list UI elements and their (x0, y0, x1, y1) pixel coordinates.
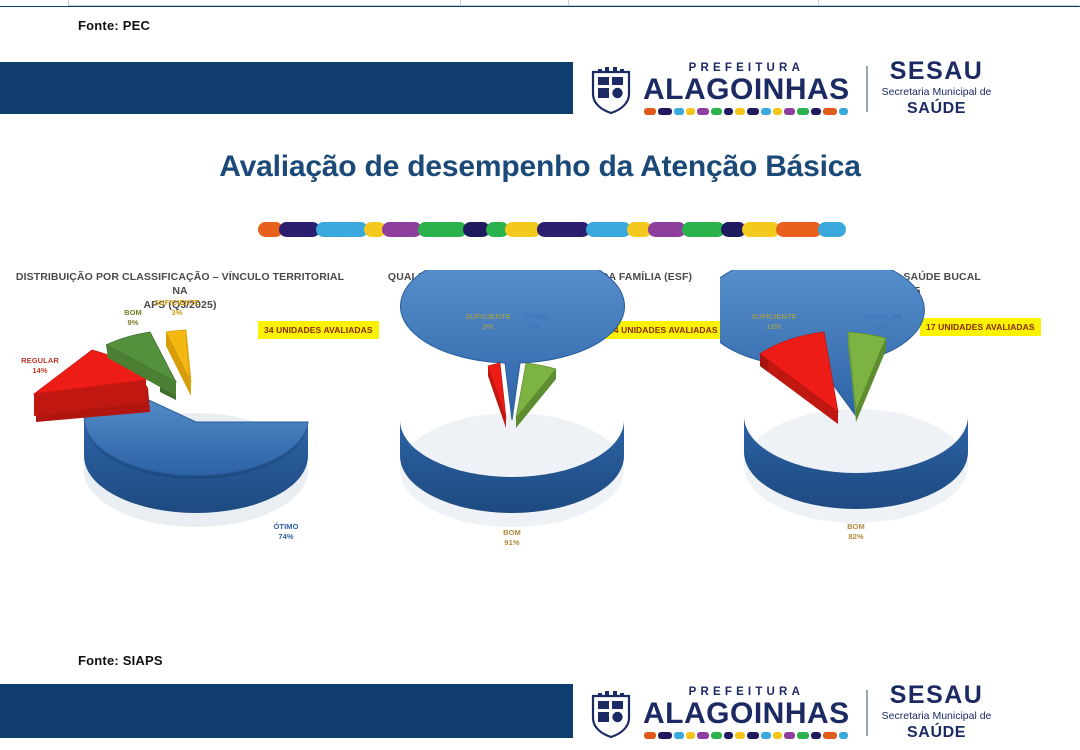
brand-city-block: PREFEITURA ALAGOINHAS (643, 687, 850, 740)
decorative-segment (682, 222, 726, 237)
decorative-segment (586, 222, 632, 237)
pie-label-suficiente-esf-name: SUFICIENTE (465, 312, 511, 321)
decorative-segment (776, 222, 822, 237)
sesau-subtitle: Secretaria Municipal de SAÚDE (882, 86, 992, 119)
chart-card-aps: DISTRIBUIÇÃO POR CLASSIFICAÇÃO – VÍNCULO… (0, 270, 360, 670)
brand-dot (724, 732, 733, 739)
brand-dot (686, 108, 695, 115)
pie-label-bom-aps-value: 9% (127, 318, 138, 327)
decorative-segment (742, 222, 780, 237)
brand-dot (735, 732, 745, 739)
brand-sesau-block: SESAU Secretaria Municipal de SAÚDE (882, 683, 992, 743)
brand-dot (811, 108, 821, 115)
brand-dot (823, 732, 837, 739)
pie-label-suficiente-aps: SUFICIENTE 3% (146, 298, 208, 318)
pie-label-otimo-aps-name: ÓTIMO (273, 522, 298, 531)
sliver-cell (460, 0, 569, 6)
brand-dot-bar (644, 732, 848, 739)
decorative-segment (382, 222, 422, 237)
brand-dot (644, 108, 656, 115)
brand-dot (711, 732, 722, 739)
brand-dot (797, 108, 809, 115)
pie-label-regular-aps-value: 14% (32, 366, 47, 375)
brand-dot (724, 108, 733, 115)
brand-dot (761, 108, 771, 115)
footer-navy-band (0, 684, 573, 738)
brand-lockup-bottom: PREFEITURA ALAGOINHAS SESAU Secretaria M… (573, 680, 1080, 746)
brand-dot (658, 108, 672, 115)
sliver-cell (818, 0, 1079, 6)
page-title: Avaliação de desempenho da Atenção Básic… (0, 150, 1080, 184)
sesau-subtitle-line1: Secretaria Municipal de (882, 86, 992, 98)
source-label-bottom: Fonte: SIAPS (78, 653, 163, 668)
brand-dot (747, 108, 759, 115)
sliver-cell (68, 0, 461, 6)
coat-of-arms-icon (589, 688, 633, 738)
pie-label-otimo-aps-value: 74% (278, 532, 293, 541)
pie-label-regular-aps-name: REGULAR (21, 356, 59, 365)
pie-label-bom-bucal: BOM 82% (828, 522, 884, 542)
sesau-subtitle-line2: SAÚDE (882, 723, 992, 743)
decorative-segment (505, 222, 541, 237)
header-navy-band (0, 62, 573, 114)
brand-dot (823, 108, 837, 115)
pie-label-otimo-esf-value: 6% (529, 322, 540, 331)
decorative-segment (818, 222, 846, 237)
sliver-cell (568, 0, 819, 6)
pie-label-suficiente-bucal-value: 12% (766, 322, 781, 331)
pie-label-suficiente-aps-name: SUFICIENTE (154, 298, 200, 307)
previous-slide-edge (0, 0, 1080, 6)
brand-dot (784, 108, 795, 115)
sesau-wordmark: SESAU (890, 59, 984, 84)
brand-dot (811, 732, 821, 739)
brand-dot (797, 732, 809, 739)
brand-dot (735, 108, 745, 115)
brand-divider (866, 66, 868, 112)
brand-dot (839, 732, 848, 739)
pie-label-suficiente-esf-value: 3% (482, 322, 493, 331)
pie-label-regular-aps: REGULAR 14% (8, 356, 72, 376)
brand-sesau-block: SESAU Secretaria Municipal de SAÚDE (882, 59, 992, 119)
decorative-segment (316, 222, 367, 237)
brand-dot (773, 108, 782, 115)
chart-card-esf: QUALIDADE DA ESTRATÉGIA DE SAÚDE DA FAMÍ… (360, 270, 720, 670)
brand-city-name: ALAGOINHAS (643, 75, 850, 105)
brand-dot-bar (644, 108, 848, 115)
brand-dot (644, 732, 656, 739)
brand-dot (697, 732, 709, 739)
slide-content: Avaliação de desempenho da Atenção Básic… (0, 122, 1080, 680)
brand-divider (866, 690, 868, 736)
sesau-wordmark: SESAU (890, 683, 984, 708)
brand-dot (839, 108, 848, 115)
pie-label-bom-aps-name: BOM (124, 308, 142, 317)
brand-dot (658, 732, 672, 739)
sesau-subtitle-line1: Secretaria Municipal de (882, 710, 992, 722)
brand-dot (674, 108, 684, 115)
pie-label-bom-bucal-name: BOM (847, 522, 865, 531)
brand-dot (697, 108, 709, 115)
pie-label-bom-esf-name: BOM (503, 528, 521, 537)
pie-label-regular-bucal-name: REGULAR (864, 312, 902, 321)
source-label-top: Fonte: PEC (78, 18, 150, 33)
brand-city-name: ALAGOINHAS (643, 699, 850, 729)
sesau-subtitle: Secretaria Municipal de SAÚDE (882, 710, 992, 743)
pie-label-bom-esf-value: 91% (504, 538, 519, 547)
brand-dot (674, 732, 684, 739)
charts-row: DISTRIBUIÇÃO POR CLASSIFICAÇÃO – VÍNCULO… (0, 270, 1080, 670)
pie-label-suficiente-bucal-name: SUFICIENTE (751, 312, 797, 321)
pie-label-regular-bucal: REGULAR 6% (852, 312, 914, 332)
pie-label-bom-esf: BOM 91% (484, 528, 540, 548)
brand-lockup-top: PREFEITURA ALAGOINHAS SESAU Secretaria M… (573, 58, 1080, 120)
sesau-subtitle-line2: SAÚDE (882, 99, 992, 119)
pie-chart-aps (0, 270, 360, 670)
brand-dot (711, 108, 722, 115)
coat-of-arms-icon (589, 64, 633, 114)
decorative-segment (537, 222, 590, 237)
decorative-color-bar (258, 222, 842, 237)
brand-dot (747, 732, 759, 739)
chart-card-bucal: QUALIDADE DA SAÚDE BUCAL Q3/2025 17 UNID… (720, 270, 1080, 670)
pie-label-bom-bucal-value: 82% (848, 532, 863, 541)
pie-label-suficiente-aps-value: 3% (171, 308, 182, 317)
brand-city-block: PREFEITURA ALAGOINHAS (643, 63, 850, 116)
decorative-segment (648, 222, 686, 237)
decorative-segment (279, 222, 321, 237)
brand-dot (686, 732, 695, 739)
brand-dot (773, 732, 782, 739)
brand-dot (784, 732, 795, 739)
pie-label-otimo-esf-name: ÓTIMO (522, 312, 547, 321)
decorative-segment (418, 222, 467, 237)
slide-page: Fonte: PEC PREFEITURA ALAGOINHAS SES (0, 0, 1080, 750)
pie-label-suficiente-bucal: SUFICIENTE 12% (742, 312, 806, 332)
pie-label-regular-bucal-value: 6% (877, 322, 888, 331)
pie-label-otimo-aps: ÓTIMO 74% (258, 522, 314, 542)
pie-label-otimo-esf: ÓTIMO 6% (507, 312, 563, 332)
brand-dot (761, 732, 771, 739)
